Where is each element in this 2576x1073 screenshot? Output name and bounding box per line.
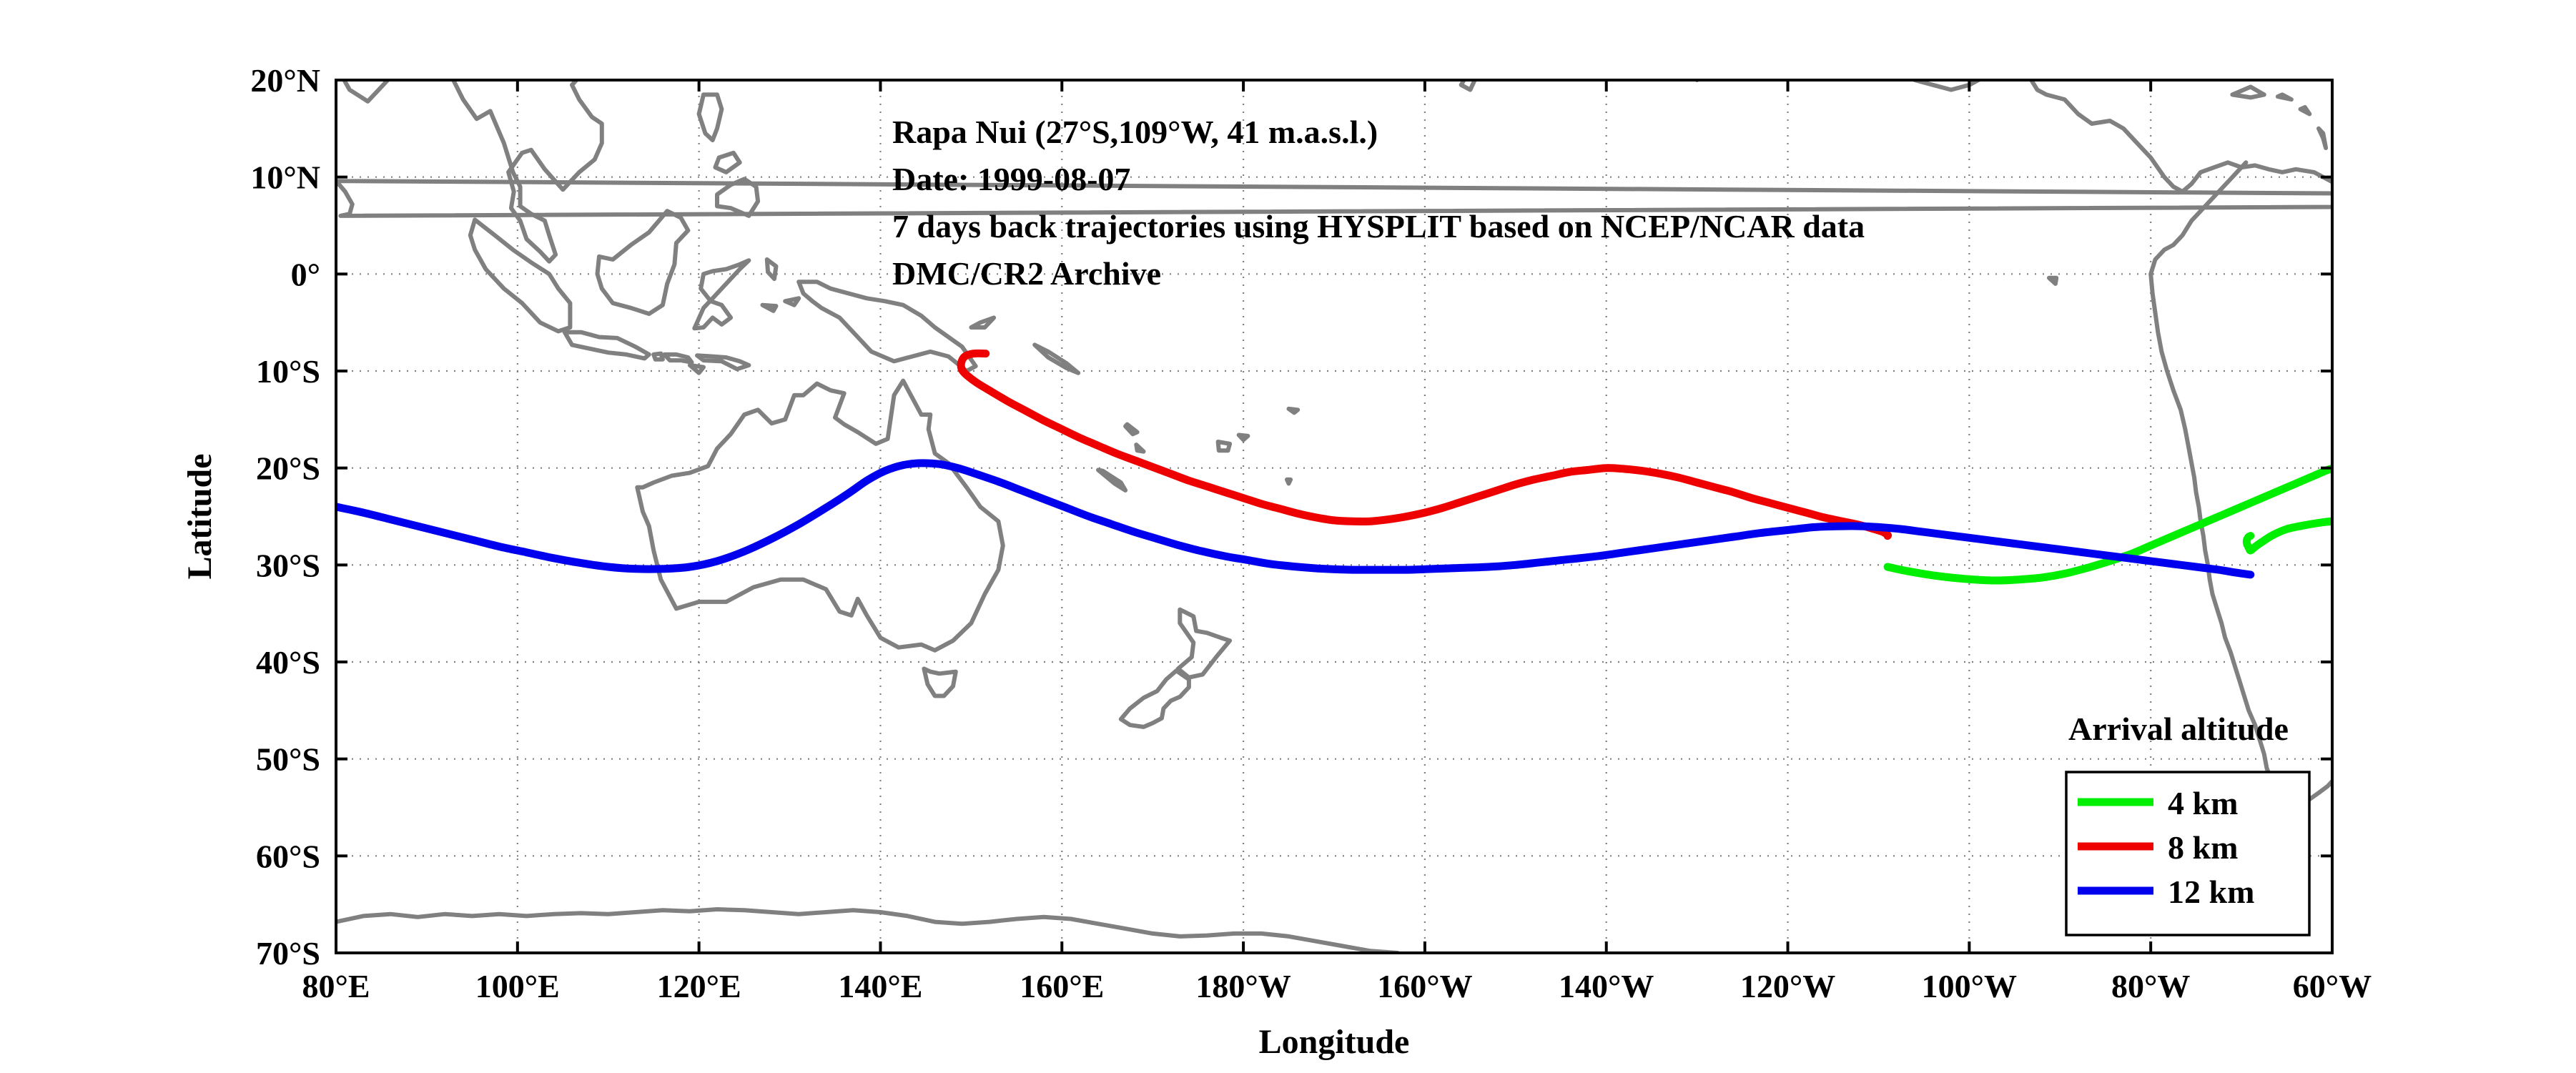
x-tick-label: 140°E — [838, 968, 922, 1004]
y-tick-label: 30°S — [256, 547, 320, 583]
x-tick-labels: 80°E100°E120°E140°E160°E180°W160°W140°W1… — [302, 968, 2372, 1004]
y-tick-labels: 20°N10°N0°10°S20°S30°S40°S50°S60°S70°S — [250, 62, 320, 971]
coastline-path — [1239, 435, 1248, 440]
y-tick-label: 50°S — [256, 741, 320, 778]
x-tick-label: 60°W — [2293, 968, 2372, 1004]
y-tick-label: 20°N — [250, 62, 320, 99]
coastline-path — [2343, 771, 2359, 780]
legend: Arrival altitude4 km8 km12 km — [2066, 711, 2309, 935]
annotation-site: Rapa Nui (27°S,109°W, 41 m.a.s.l.) — [892, 114, 1378, 150]
coastline-path — [1697, 0, 1929, 80]
legend-label-1: 8 km — [2168, 829, 2238, 866]
coastline-path — [785, 298, 799, 305]
annotation-date: Date: 1999-08-07 — [892, 161, 1130, 197]
x-tick-label: 80°W — [2111, 968, 2190, 1004]
y-axis-title: Latitude — [181, 453, 219, 579]
annotation-method: 7 days back trajectories using HYSPLIT b… — [892, 208, 1865, 244]
annotation-archive: DMC/CR2 Archive — [892, 255, 1161, 292]
legend-label-2: 12 km — [2168, 874, 2254, 910]
coastline-path — [1287, 480, 1291, 484]
y-tick-label: 40°S — [256, 644, 320, 681]
x-tick-label: 80°E — [302, 968, 370, 1004]
x-tick-label: 120°W — [1740, 968, 1835, 1004]
x-tick-label: 120°E — [657, 968, 741, 1004]
x-tick-label: 100°E — [475, 968, 560, 1004]
coastline-path — [1289, 409, 1298, 412]
y-tick-label: 0° — [291, 256, 320, 292]
x-axis-title: Longitude — [1259, 1023, 1410, 1061]
legend-label-0: 4 km — [2168, 785, 2238, 821]
x-tick-label: 140°W — [1559, 968, 1654, 1004]
y-tick-label: 20°S — [256, 450, 320, 487]
coastline-path — [2169, 49, 2237, 79]
y-tick-label: 10°S — [256, 353, 320, 390]
x-tick-label: 160°E — [1020, 968, 1104, 1004]
coastline-path — [1448, 64, 1455, 68]
x-tick-label: 180°W — [1195, 968, 1291, 1004]
x-tick-label: 100°W — [1922, 968, 2017, 1004]
legend-title: Arrival altitude — [2068, 711, 2289, 747]
coastline-path — [664, 355, 691, 362]
map-plot-svg: 80°E100°E120°E140°E160°E180°W160°W140°W1… — [0, 0, 2576, 1073]
y-tick-label: 10°N — [250, 159, 320, 196]
trajectory-map-figure: 80°E100°E120°E140°E160°E180°W160°W140°W1… — [0, 0, 2576, 1073]
y-tick-label: 60°S — [256, 838, 320, 874]
y-tick-label: 70°S — [256, 935, 320, 971]
x-tick-label: 160°W — [1377, 968, 1472, 1004]
